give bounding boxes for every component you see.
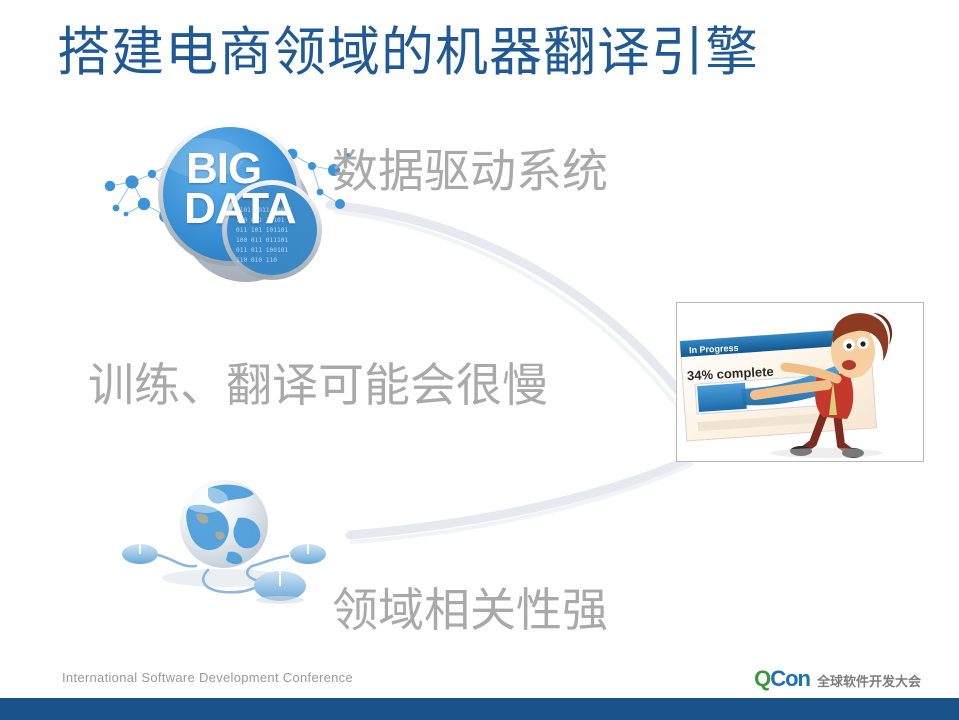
mouse-front xyxy=(254,571,306,604)
progress-bar-cartoon-image: In Progress 34% complete xyxy=(676,302,924,462)
label-training-translation-slow: 训练、翻译可能会很慢 xyxy=(88,358,548,412)
svg-text:011 011 100101: 011 011 100101 xyxy=(236,247,288,254)
footer-caption: International Software Development Confe… xyxy=(62,670,353,685)
bigdata-text-data: DATA xyxy=(184,184,296,234)
label-data-driven-system: 数据驱动系统 xyxy=(332,144,608,198)
globe-with-mice-illustration xyxy=(112,462,352,620)
qcon-logo-q: Q xyxy=(754,666,770,692)
presentation-slide: 搭建电商领域的机器翻译引擎 xyxy=(0,0,959,720)
svg-text:110 010 110: 110 010 110 xyxy=(236,257,277,264)
big-data-graphic: 0101 1011 10011 110 011 10101 011 101 10… xyxy=(96,112,356,297)
page-title: 搭建电商领域的机器翻译引擎 xyxy=(57,22,917,84)
qcon-logo-subtitle: 全球软件开发大会 xyxy=(817,671,921,690)
label-domain-specific: 领域相关性强 xyxy=(332,583,608,637)
qcon-logo: Q Con 全球软件开发大会 xyxy=(754,666,921,692)
mouse-right xyxy=(290,544,326,564)
qcon-logo-con: Con xyxy=(770,666,810,692)
svg-text:100 011 011101: 100 011 011101 xyxy=(236,237,288,244)
mouse-left xyxy=(122,544,158,564)
globe-graphic xyxy=(112,462,352,620)
footer-bar xyxy=(0,698,959,720)
